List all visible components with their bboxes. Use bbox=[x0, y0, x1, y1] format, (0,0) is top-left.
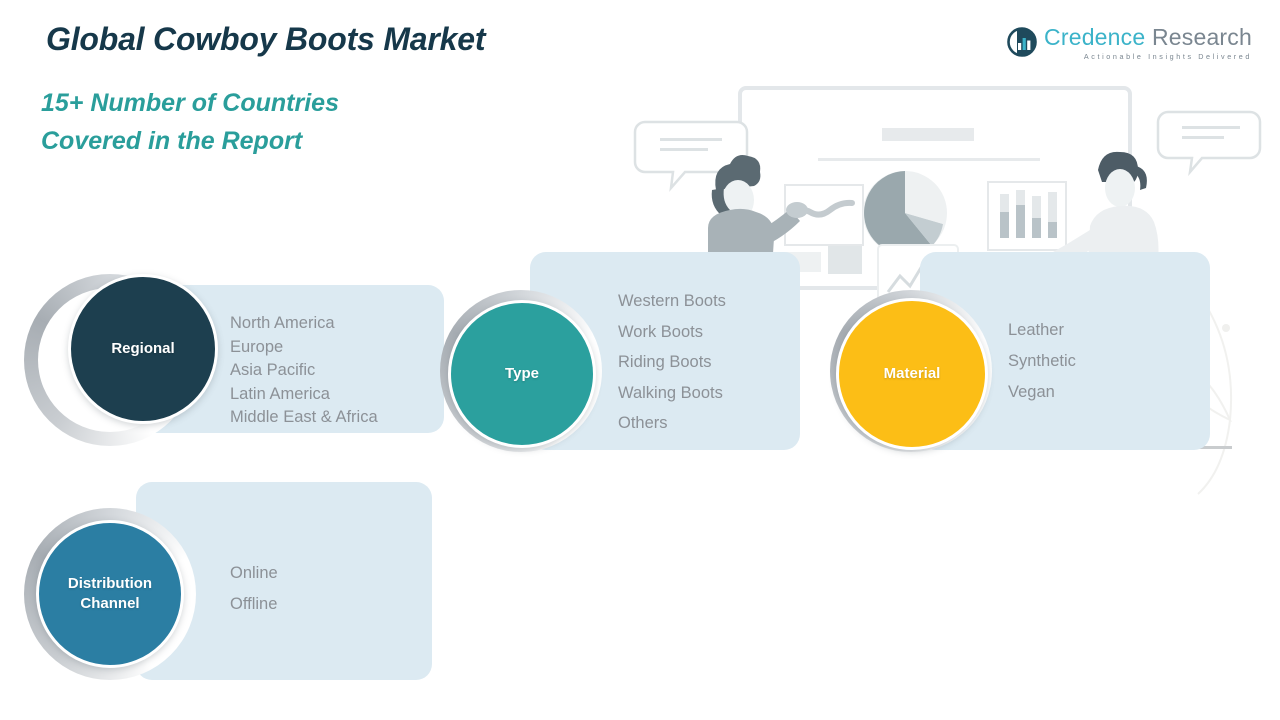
segment-circle-distribution-channel[interactable]: Distribution Channel bbox=[36, 520, 184, 668]
logo-tagline: Actionable Insights Delivered bbox=[1044, 53, 1252, 60]
list-item: Offline bbox=[230, 589, 278, 620]
page-title: Global Cowboy Boots Market bbox=[46, 21, 485, 58]
segment-card-regional[interactable]: Regional North America Europe Asia Pacif… bbox=[24, 266, 464, 456]
pie-chart-icon bbox=[863, 171, 947, 255]
segment-card-type[interactable]: Type Western Boots Work Boots Riding Boo… bbox=[440, 250, 840, 460]
segment-circle-regional[interactable]: Regional bbox=[68, 274, 218, 424]
segment-label: Material bbox=[884, 364, 941, 384]
list-item: Asia Pacific bbox=[230, 359, 378, 383]
segment-circle-material[interactable]: Material bbox=[836, 298, 988, 450]
list-item: Online bbox=[230, 558, 278, 589]
logo-wordmark: Credence Research bbox=[1044, 26, 1252, 49]
list-item: Western Boots bbox=[618, 286, 726, 317]
segment-card-distribution-channel[interactable]: Distribution Channel Online Offline bbox=[24, 478, 444, 693]
logo-word-secondary: Research bbox=[1152, 24, 1252, 50]
segment-label: Regional bbox=[111, 339, 174, 359]
segment-item-list: Leather Synthetic Vegan bbox=[1008, 315, 1076, 408]
list-item: Riding Boots bbox=[618, 347, 726, 378]
segment-card-material[interactable]: Material Leather Synthetic Vegan bbox=[830, 250, 1230, 460]
list-item: Middle East & Africa bbox=[230, 406, 378, 430]
line-chart-panel-icon bbox=[785, 185, 863, 245]
speech-bubble-left-icon bbox=[635, 122, 747, 188]
list-item: North America bbox=[230, 312, 378, 336]
list-item: Latin America bbox=[230, 383, 378, 407]
page-subtitle: 15+ Number of Countries Covered in the R… bbox=[41, 84, 339, 160]
logo-word-primary: Credence bbox=[1044, 24, 1145, 50]
list-item: Others bbox=[618, 408, 726, 439]
credence-bar-chart-circle-icon bbox=[1007, 27, 1037, 57]
brand-logo[interactable]: Credence Research Actionable Insights De… bbox=[1007, 26, 1252, 60]
list-item: Leather bbox=[1008, 315, 1076, 346]
bar-chart-panel-icon bbox=[988, 182, 1066, 250]
list-item: Europe bbox=[230, 336, 378, 360]
segment-item-list: Online Offline bbox=[230, 558, 278, 620]
segment-label: Distribution Channel bbox=[68, 574, 152, 614]
segment-item-list: North America Europe Asia Pacific Latin … bbox=[230, 312, 378, 430]
segment-item-list: Western Boots Work Boots Riding Boots Wa… bbox=[618, 286, 726, 439]
list-item: Walking Boots bbox=[618, 378, 726, 409]
infographic-canvas: Global Cowboy Boots Market 15+ Number of… bbox=[0, 0, 1280, 720]
speech-bubble-right-icon bbox=[1158, 112, 1260, 172]
list-item: Vegan bbox=[1008, 377, 1076, 408]
list-item: Synthetic bbox=[1008, 346, 1076, 377]
segment-label: Type bbox=[505, 364, 539, 384]
list-item: Work Boots bbox=[618, 317, 726, 348]
segment-circle-type[interactable]: Type bbox=[448, 300, 596, 448]
